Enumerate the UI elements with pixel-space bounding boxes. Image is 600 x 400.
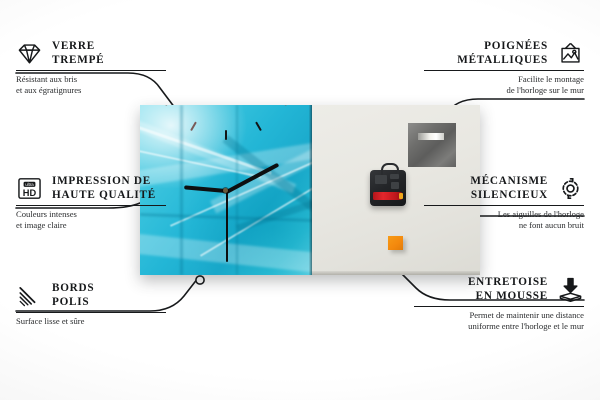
infographic-canvas: VERRE TREMPÉ Résistant aux bris et aux é… (0, 0, 600, 400)
hand-hub (223, 188, 228, 193)
feature-subtitle: Les aiguilles de l'horloge ne font aucun… (424, 209, 584, 230)
second-hand (226, 190, 228, 262)
feature-rule (16, 70, 166, 71)
feature-poignees-metalliques: POIGNÉES MÉTALLIQUES Facilite le montage… (424, 40, 584, 95)
feature-rule (424, 70, 584, 71)
feature-subtitle: Surface lisse et sûre (16, 316, 166, 326)
feature-subtitle: Résistant aux bris et aux égratignures (16, 74, 166, 95)
feature-title: POIGNÉES MÉTALLIQUES (457, 40, 548, 66)
feature-title: ENTRETOISE EN MOUSSE (468, 276, 548, 302)
metal-hanger-plate (408, 123, 456, 167)
feature-rule (16, 205, 166, 206)
feature-title: MÉCANISME SILENCIEUX (470, 175, 548, 201)
panel-bottom-edge (312, 271, 480, 275)
feature-title: VERRE TREMPÉ (52, 40, 104, 66)
feature-entretoise-mousse: ENTRETOISE EN MOUSSE Permet de maintenir… (414, 276, 584, 331)
svg-text:ultra: ultra (25, 182, 34, 187)
aa-battery (373, 192, 402, 200)
svg-text:HD: HD (23, 188, 37, 198)
wall-frame-icon (557, 40, 584, 67)
feature-title: IMPRESSION DE HAUTE QUALITÉ (52, 175, 156, 201)
gear-icon (557, 175, 584, 202)
feature-rule (414, 306, 584, 307)
feature-subtitle: Facilite le montage de l'horloge sur le … (424, 74, 584, 95)
quartz-movement (370, 170, 406, 206)
feature-rule (424, 205, 584, 206)
hanger-slot (418, 133, 444, 140)
feature-subtitle: Permet de maintenir une distance uniform… (414, 310, 584, 331)
feature-subtitle: Couleurs intenses et image claire (16, 209, 166, 230)
marker-bords-polis (196, 276, 204, 284)
diamond-icon (16, 40, 43, 67)
foam-spacer-icon (557, 276, 584, 303)
feature-title: BORDS POLIS (52, 282, 94, 308)
feature-rule (16, 312, 166, 313)
minute-hand (224, 163, 279, 195)
foam-spacer (388, 236, 403, 250)
feature-verre-trempe: VERRE TREMPÉ Résistant aux bris et aux é… (16, 40, 166, 95)
ultra-hd-icon: ultra HD (16, 175, 43, 202)
feature-mecanisme-silencieux: MÉCANISME SILENCIEUX Les aiguilles de l'… (424, 175, 584, 230)
polished-edges-icon (16, 282, 43, 309)
hour-hand (184, 185, 228, 193)
feature-bords-polis: BORDS POLIS Surface lisse et sûre (16, 282, 166, 327)
feature-impression-hd: ultra HD IMPRESSION DE HAUTE QUALITÉ Cou… (16, 175, 166, 230)
battery-terminal (399, 193, 403, 199)
